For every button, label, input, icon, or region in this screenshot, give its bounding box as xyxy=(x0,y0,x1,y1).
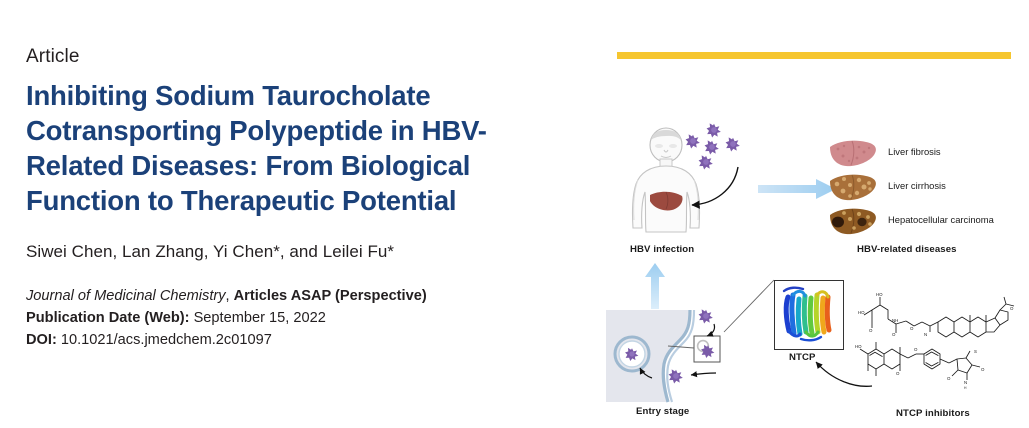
disease-row: Liver cirrhosis xyxy=(828,172,1028,202)
ntcp-inhibitor-structures: HO HO O O NH O N O HO O O S O O xyxy=(850,288,1026,398)
svg-text:O: O xyxy=(947,376,951,381)
author-list: Siwei Chen, Lan Zhang, Yi Chen*, and Lei… xyxy=(26,241,586,263)
svg-text:HO: HO xyxy=(858,310,865,315)
journal-line: Journal of Medicinal Chemistry, Articles… xyxy=(26,285,586,307)
svg-text:O: O xyxy=(981,367,985,372)
svg-text:S: S xyxy=(974,349,977,354)
ntcp-inhibitors-label: NTCP inhibitors xyxy=(896,408,970,419)
disease-row: Hepatocellular carcinoma xyxy=(828,206,1028,236)
journal-name: Journal of Medicinal Chemistry xyxy=(26,288,226,304)
svg-text:N: N xyxy=(964,380,967,385)
publication-date-line: Publication Date (Web): September 15, 20… xyxy=(26,307,586,329)
publication-date-label: Publication Date (Web): xyxy=(26,310,190,326)
ntcp-ribbon-structure xyxy=(779,285,839,345)
citation-block: Journal of Medicinal Chemistry, Articles… xyxy=(26,285,586,352)
hbv-disease-list: Liver fibrosis xyxy=(828,138,1028,236)
svg-text:HO: HO xyxy=(855,344,862,349)
svg-text:NH: NH xyxy=(892,318,898,323)
doi-label: DOI: xyxy=(26,332,57,348)
doi-line: DOI: 10.1021/acs.jmedchem.2c01097 xyxy=(26,329,586,351)
svg-text:HO: HO xyxy=(876,292,883,297)
progression-arrow-right xyxy=(758,178,838,200)
svg-text:O: O xyxy=(896,371,900,376)
issue-label: Articles ASAP (Perspective) xyxy=(234,288,427,304)
hbv-infection-label: HBV infection xyxy=(630,244,694,255)
publication-date-value: September 15, 2022 xyxy=(190,310,326,326)
page-title[interactable]: Inhibiting Sodium Taurocholate Cotranspo… xyxy=(26,78,526,219)
hepatocellular-carcinoma-icon xyxy=(828,206,880,236)
accent-bar xyxy=(617,52,1011,59)
doi-value[interactable]: 10.1021/acs.jmedchem.2c01097 xyxy=(57,332,272,348)
svg-text:O: O xyxy=(892,332,896,337)
svg-text:O: O xyxy=(910,326,914,331)
svg-text:O: O xyxy=(1010,306,1014,311)
journal-separator: , xyxy=(226,288,234,304)
progression-arrow-up xyxy=(644,263,666,309)
ntcp-structure-box[interactable] xyxy=(774,280,844,350)
article-info-column: Article Inhibiting Sodium Taurocholate C… xyxy=(26,46,586,351)
liver-cirrhosis-icon xyxy=(828,172,880,202)
disease-name: Hepatocellular carcinoma xyxy=(888,214,994,225)
content-type-label: Article xyxy=(26,46,586,69)
svg-text:N: N xyxy=(924,332,927,337)
disease-row: Liver fibrosis xyxy=(828,138,1028,168)
disease-name: Liver fibrosis xyxy=(888,146,941,157)
hbv-related-diseases-label: HBV-related diseases xyxy=(857,244,957,255)
svg-text:O: O xyxy=(914,347,918,352)
entry-stage-label: Entry stage xyxy=(636,406,689,417)
graphical-abstract-panel: HBV infection xyxy=(600,0,1029,428)
article-summary-page: Article Inhibiting Sodium Taurocholate C… xyxy=(0,0,1029,428)
liver-fibrosis-icon xyxy=(828,138,880,168)
disease-name: Liver cirrhosis xyxy=(888,180,946,191)
svg-text:O: O xyxy=(869,328,873,333)
infection-arrow xyxy=(654,164,744,216)
svg-text:H: H xyxy=(964,386,967,390)
graphical-abstract-figure[interactable]: HBV infection xyxy=(606,120,1026,420)
